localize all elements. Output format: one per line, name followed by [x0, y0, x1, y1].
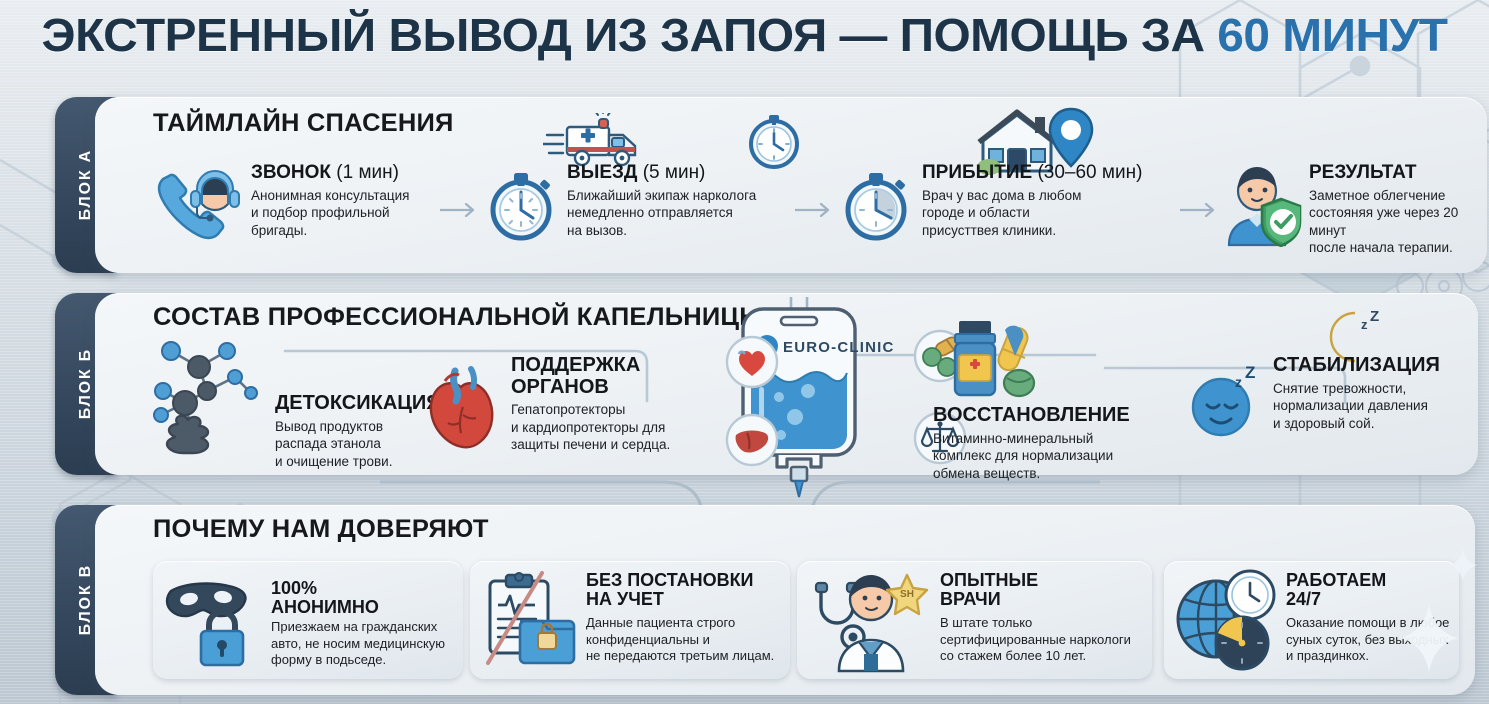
trust-desc: В штате только сертифицированные нарколо…: [940, 615, 1131, 665]
block-b-panel: СОСТАВ ПРОФЕССИОНАЛЬНОЙ КАПЕЛЬНИЦЫ: [95, 293, 1478, 475]
trust-desc: Данные пациента строго конфиденциальны и…: [586, 615, 774, 665]
component-item: ВОССТАНОВЛЕНИЕ Витаминно-минеральный ком…: [933, 351, 1130, 482]
liver-icon: [725, 413, 779, 467]
sleeping-face-icon: z Z: [1185, 365, 1265, 439]
block-a-title: ТАЙМЛАЙН СПАСЕНИЯ: [153, 109, 454, 138]
component-item: ДЕТОКСИКАЦИЯ Вывод продуктов распада эта…: [147, 343, 441, 470]
step-heading-suffix: (5 мин): [637, 162, 705, 183]
step-heading: ПРИБЫТИЕ (30–60 мин): [922, 163, 1142, 184]
heart-anatomy-icon: [425, 363, 501, 451]
step-item: ПРИБЫТИЕ (30–60 мин) Врач у вас дома в л…: [840, 163, 1142, 239]
arrow-right-icon: [1180, 203, 1220, 217]
trust-heading: ОПЫТНЫЕ ВРАЧИ: [940, 571, 1038, 610]
step-heading-main: РЕЗУЛЬТАТ: [1309, 162, 1416, 183]
step-desc: Врач у вас дома в любом городе и области…: [922, 187, 1142, 240]
component-item: ПОДДЕРЖКА ОРГАНОВ Гепатопротекторы и кар…: [425, 355, 670, 454]
component-heading: ДЕТОКСИКАЦИЯ: [275, 393, 441, 415]
arrow-right-icon: [795, 203, 835, 217]
mask-lock-icon: [165, 571, 271, 669]
sparkle-icon: [1398, 602, 1460, 674]
component-desc: Вывод продуктов распада этанола и очищен…: [275, 418, 441, 471]
step-item: РЕЗУЛЬТАТ Заметное облегчение состояняя …: [1223, 163, 1487, 257]
trust-card[interactable]: БЕЗ ПОСТАНОВКИ НА УЧЕТ Данные пациента с…: [470, 561, 790, 679]
trust-card[interactable]: 100% АНОНИМНО Приезжаем на гражданских а…: [153, 561, 463, 679]
svg-text:Z: Z: [1370, 308, 1379, 325]
no-record-icon: [480, 571, 586, 669]
block-c-panel: ПОЧЕМУ НАМ ДОВЕРЯЮТ 100% АНОНИМНО Приезж…: [95, 505, 1475, 695]
stopwatch-icon: [485, 165, 557, 243]
block-b: БЛОК Б СОСТАВ ПРОФЕССИОНАЛЬНОЙ КАПЕЛЬНИЦ…: [55, 293, 1445, 475]
svg-text:z: z: [1235, 374, 1242, 390]
step-heading: РЕЗУЛЬТАТ: [1309, 163, 1487, 184]
component-desc: Гепатопротекторы и кардиопротекторы для …: [511, 401, 670, 454]
step-heading: ВЫЕЗД (5 мин): [567, 163, 756, 184]
step-heading-main: ВЫЕЗД: [567, 162, 637, 183]
molecule-icon: [147, 335, 267, 457]
globe-clock-icon: [1172, 569, 1282, 671]
block-a-tab-label: БЛОК А: [77, 149, 95, 220]
component-desc: Снятие тревожности, нормализации давлени…: [1273, 380, 1440, 433]
svg-text:EURO-CLINIC: EURO-CLINIC: [783, 339, 895, 356]
block-c: БЛОК В ПОЧЕМУ НАМ ДОВЕРЯЮТ 100% АНОНИМНО…: [55, 505, 1445, 695]
title-accent: 60 МИНУТ: [1217, 9, 1447, 61]
component-heading: СТАБИЛИЗАЦИЯ: [1273, 355, 1440, 377]
doctor-badge-text: SH: [900, 589, 914, 600]
block-a: БЛОК А ТАЙМЛАЙН СПАСЕНИЯ: [55, 97, 1455, 273]
vitamins-icon: [945, 315, 1055, 407]
block-a-panel: ТАЙМЛАЙН СПАСЕНИЯ: [95, 97, 1487, 273]
step-heading-suffix: (30–60 мин): [1032, 162, 1142, 183]
trust-heading: БЕЗ ПОСТАНОВКИ НА УЧЕТ: [586, 571, 754, 610]
block-c-title: ПОЧЕМУ НАМ ДОВЕРЯЮТ: [153, 515, 489, 544]
heart-icon: [725, 335, 779, 389]
stopwatch-icon: [840, 165, 912, 243]
title-main: ЭКСТРЕННЫЙ ВЫВОД ИЗ ЗАПОЯ — ПОМОЩЬ ЗА: [42, 9, 1218, 61]
component-heading: ВОССТАНОВЛЕНИЕ: [933, 405, 1130, 427]
clock-icon: [743, 109, 805, 171]
trust-card[interactable]: SH ОПЫТНЫЕ ВРАЧИ В штате только сертифиц…: [797, 561, 1152, 679]
phone-headset-icon: [153, 165, 243, 249]
trust-heading: РАБОТАЕМ 24/7: [1286, 571, 1386, 610]
step-desc: Анонимная консультация и подбор профильн…: [251, 187, 409, 240]
svg-text:Z: Z: [1245, 365, 1255, 382]
step-item: ВЫЕЗД (5 мин) Ближайший экипаж нарколога…: [485, 163, 756, 239]
step-desc: Заметное облегчение состояняя уже через …: [1309, 187, 1487, 257]
doctor-star-icon: SH: [803, 569, 935, 673]
block-c-tab-label: БЛОК В: [77, 564, 95, 635]
trust-desc: Приезжаем на гражданских авто, не носим …: [271, 619, 445, 669]
step-item: ЗВОНОК (1 мин) Анонимная консультация и …: [153, 163, 409, 239]
page-title: ЭКСТРЕННЫЙ ВЫВОД ИЗ ЗАПОЯ — ПОМОЩЬ ЗА 60…: [0, 8, 1489, 62]
step-desc: Ближайший экипаж нарколога немедленно от…: [567, 187, 756, 240]
block-b-tab-label: БЛОК Б: [77, 348, 95, 419]
step-heading-main: ЗВОНОК: [251, 162, 331, 183]
step-heading: ЗВОНОК (1 мин): [251, 163, 409, 184]
component-item: z Z СТАБИЛИЗАЦИЯ Снятие тревожности, нор…: [1185, 355, 1440, 432]
arrow-right-icon: [440, 203, 480, 217]
sparkle-small-icon: [1448, 548, 1478, 582]
step-heading-main: ПРИБЫТИЕ: [922, 162, 1032, 183]
step-heading-suffix: (1 мин): [331, 162, 399, 183]
patient-shield-icon: [1223, 163, 1303, 247]
component-heading: ПОДДЕРЖКА ОРГАНОВ: [511, 355, 670, 398]
trust-heading: 100% АНОНИМНО: [271, 579, 379, 618]
svg-text:z: z: [1361, 317, 1368, 332]
